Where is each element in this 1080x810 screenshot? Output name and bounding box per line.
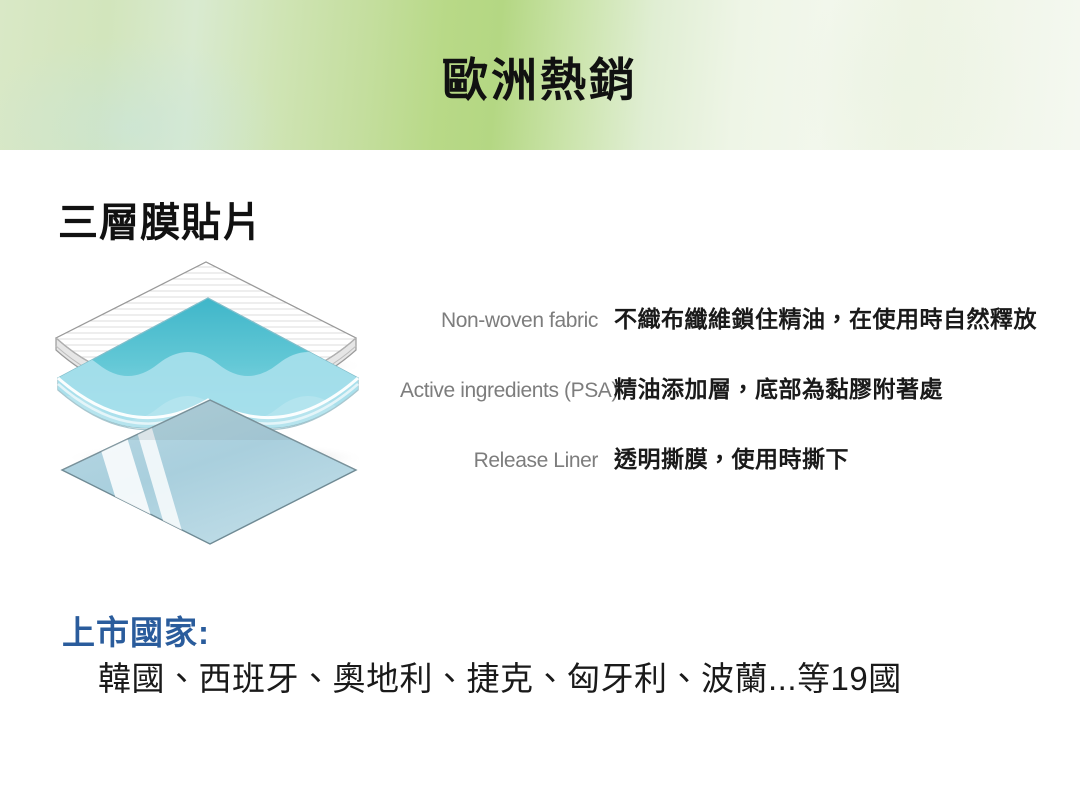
layer-row-non-woven: Non-woven fabric 不織布纖維鎖住精油，在使用時自然釋放 (400, 300, 1060, 368)
row-label-wrap-3: Release Liner (400, 449, 598, 473)
layer-en-label-non-woven: Non-woven fabric (441, 309, 598, 332)
layer-row-active-ingredients: Active ingredients (PSA) 精油添加層，底部為黏膠附著處 (400, 370, 1060, 438)
row-label-wrap-1: Non-woven fabric (400, 309, 598, 333)
layer-zh-desc-release-liner: 透明撕膜，使用時撕下 (614, 440, 849, 474)
layer-row-release-liner: Release Liner 透明撕膜，使用時撕下 (400, 440, 1060, 508)
layer-zh-desc-non-woven: 不織布纖維鎖住精油，在使用時自然釋放 (614, 300, 1037, 334)
slide: 歐洲熱銷 三層膜貼片 (0, 0, 1080, 810)
layer-label-rows: Non-woven fabric 不織布纖維鎖住精油，在使用時自然釋放 Acti… (400, 300, 1060, 508)
countries-heading: 上市國家: (62, 606, 210, 654)
countries-list: 韓國、西班牙、奧地利、捷克、匈牙利、波蘭...等19國 (98, 652, 902, 700)
layer-zh-desc-active-ingredients: 精油添加層，底部為黏膠附著處 (614, 370, 943, 404)
layer-en-label-active-ingredients: Active ingredients (PSA) (400, 379, 618, 402)
three-layer-patch-diagram (48, 258, 398, 568)
header-banner: 歐洲熱銷 (0, 0, 1080, 150)
layer-en-label-release-liner: Release Liner (474, 449, 598, 472)
layers-svg (48, 258, 398, 568)
page-title: 三層膜貼片 (58, 190, 263, 248)
banner-title: 歐洲熱銷 (0, 44, 1080, 110)
layer-release-liner (62, 400, 356, 558)
row-label-wrap-2: Active ingredients (PSA) (400, 379, 598, 403)
